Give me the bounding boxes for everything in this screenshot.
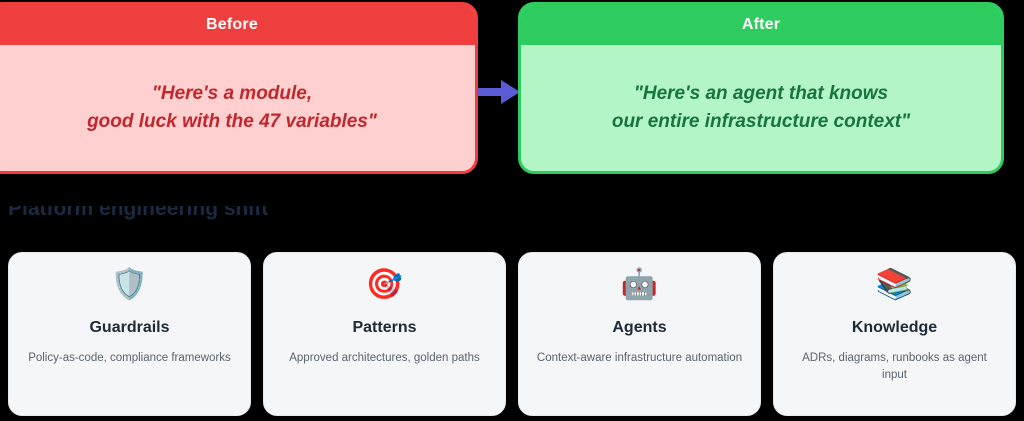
- pillar-card-description: Context-aware infrastructure automation: [537, 350, 742, 367]
- robot-icon: 🤖: [621, 265, 658, 305]
- before-panel-body: "Here's a module, good luck with the 47 …: [0, 45, 475, 171]
- before-panel: Before "Here's a module, good luck with …: [0, 2, 478, 174]
- pillar-cards-row: 🛡️ Guardrails Policy-as-code, compliance…: [0, 252, 1024, 416]
- pillar-card-title: Patterns: [352, 319, 416, 337]
- pillar-card-patterns[interactable]: 🎯 Patterns Approved architectures, golde…: [263, 252, 506, 416]
- after-panel: After "Here's an agent that knows our en…: [518, 2, 1004, 174]
- books-icon: 📚: [876, 265, 913, 305]
- shield-icon: 🛡️: [111, 265, 148, 305]
- section-heading-container: Platform engineering shift: [0, 206, 1024, 232]
- pillar-card-title: Knowledge: [852, 319, 937, 337]
- pillar-card-agents[interactable]: 🤖 Agents Context-aware infrastructure au…: [518, 252, 761, 416]
- pillar-card-description: Policy-as-code, compliance frameworks: [28, 350, 231, 367]
- dart-target-icon: 🎯: [366, 265, 403, 305]
- after-panel-body: "Here's an agent that knows our entire i…: [521, 45, 1001, 171]
- before-quote-text: "Here's a module, good luck with the 47 …: [69, 80, 395, 135]
- arrow-right-icon: [477, 77, 521, 112]
- section-heading: Platform engineering shift: [8, 206, 268, 221]
- pillar-card-title: Guardrails: [89, 319, 169, 337]
- transition-arrow: [477, 78, 521, 110]
- after-panel-header: After: [521, 5, 1001, 45]
- pillar-card-description: ADRs, diagrams, runbooks as agent input: [790, 350, 1000, 383]
- before-panel-header: Before: [0, 5, 475, 45]
- pillar-card-guardrails[interactable]: 🛡️ Guardrails Policy-as-code, compliance…: [8, 252, 251, 416]
- before-after-comparison: Before "Here's a module, good luck with …: [0, 0, 1024, 180]
- pillar-card-description: Approved architectures, golden paths: [289, 350, 480, 367]
- after-quote-text: "Here's an agent that knows our entire i…: [594, 80, 928, 135]
- pillar-card-knowledge[interactable]: 📚 Knowledge ADRs, diagrams, runbooks as …: [773, 252, 1016, 416]
- pillar-card-title: Agents: [612, 319, 666, 337]
